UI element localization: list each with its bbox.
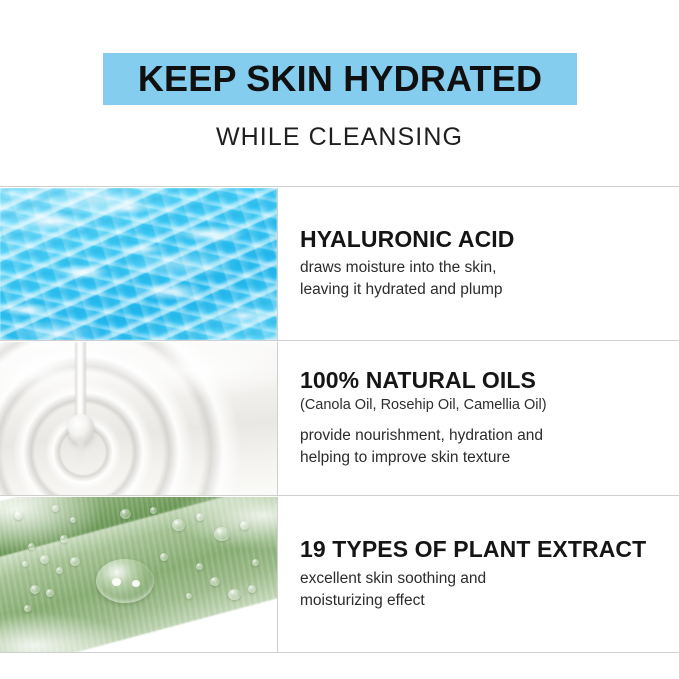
water-droplet <box>210 577 220 586</box>
water-droplet <box>60 535 68 543</box>
water-droplet <box>252 559 259 566</box>
benefit-description-line: moisturizing effect <box>300 590 669 612</box>
water-droplet <box>214 527 230 541</box>
water-droplet <box>160 553 168 561</box>
row-vertical-divider <box>277 342 278 495</box>
milk-pour-image <box>0 342 277 495</box>
product-benefits-infographic: KEEP SKIN HYDRATED WHILE CLEANSING HYALU… <box>0 0 679 679</box>
benefit-heading: HYALURONIC ACID <box>300 226 669 253</box>
water-texture-art <box>0 188 277 340</box>
benefit-description-line: excellent skin soothing and <box>300 568 669 590</box>
water-droplet <box>52 505 59 512</box>
water-droplet <box>30 585 40 594</box>
water-droplet <box>46 589 54 597</box>
benefit-row: HYALURONIC ACID draws moisture into the … <box>0 186 679 340</box>
benefit-copy: HYALURONIC ACID draws moisture into the … <box>300 187 669 340</box>
benefit-description: draws moisture into the skin, leaving it… <box>300 257 669 301</box>
benefit-description-line: provide nourishment, hydration and <box>300 425 669 447</box>
water-droplet <box>228 589 241 600</box>
page-title: KEEP SKIN HYDRATED <box>138 61 542 97</box>
benefit-rows: HYALURONIC ACID draws moisture into the … <box>0 186 679 652</box>
water-droplet <box>186 593 192 599</box>
page-subtitle: WHILE CLEANSING <box>0 124 679 152</box>
benefit-description: provide nourishment, hydration and helpi… <box>300 425 669 469</box>
water-droplet <box>24 605 31 612</box>
water-droplet <box>150 507 157 514</box>
bottom-divider <box>0 652 679 653</box>
green-leaf-dew-image <box>0 497 277 652</box>
water-droplet <box>120 509 131 519</box>
benefit-description-line: draws moisture into the skin, <box>300 257 669 279</box>
water-droplet <box>248 585 256 593</box>
droplet-highlight <box>112 578 121 586</box>
water-ripples-image <box>0 188 277 340</box>
water-droplet <box>14 511 23 520</box>
water-droplet <box>70 557 80 566</box>
milk-texture-art <box>0 342 277 495</box>
water-droplet <box>196 563 203 570</box>
title-highlight-banner: KEEP SKIN HYDRATED <box>103 53 577 105</box>
benefit-subnote: (Canola Oil, Rosehip Oil, Camellia Oil) <box>300 396 669 414</box>
benefit-heading: 100% NATURAL OILS <box>300 367 669 394</box>
benefit-description: excellent skin soothing and moisturizing… <box>300 568 669 612</box>
benefit-description-line: helping to improve skin texture <box>300 447 669 469</box>
large-water-droplet <box>96 559 154 603</box>
water-droplet <box>56 567 63 574</box>
water-droplet <box>172 519 185 531</box>
water-droplet <box>240 521 249 530</box>
milk-sheen <box>0 342 277 495</box>
water-droplet <box>70 517 76 523</box>
water-droplet <box>40 555 49 564</box>
row-vertical-divider <box>277 188 278 340</box>
milk-droplet-tail <box>77 438 84 464</box>
benefit-row: 19 TYPES OF PLANT EXTRACT excellent skin… <box>0 495 679 652</box>
leaf-texture-art <box>0 497 277 652</box>
benefit-row: 100% NATURAL OILS (Canola Oil, Rosehip O… <box>0 340 679 495</box>
header: KEEP SKIN HYDRATED WHILE CLEANSING <box>0 0 679 186</box>
benefit-description-line: leaving it hydrated and plump <box>300 279 669 301</box>
benefit-copy: 19 TYPES OF PLANT EXTRACT excellent skin… <box>300 496 669 652</box>
water-droplet <box>196 513 204 521</box>
row-vertical-divider <box>277 497 278 652</box>
droplet-highlight <box>132 580 140 587</box>
benefit-copy: 100% NATURAL OILS (Canola Oil, Rosehip O… <box>300 341 669 495</box>
benefit-heading: 19 TYPES OF PLANT EXTRACT <box>300 536 669 563</box>
water-droplet <box>28 543 35 550</box>
water-droplet <box>22 561 28 567</box>
